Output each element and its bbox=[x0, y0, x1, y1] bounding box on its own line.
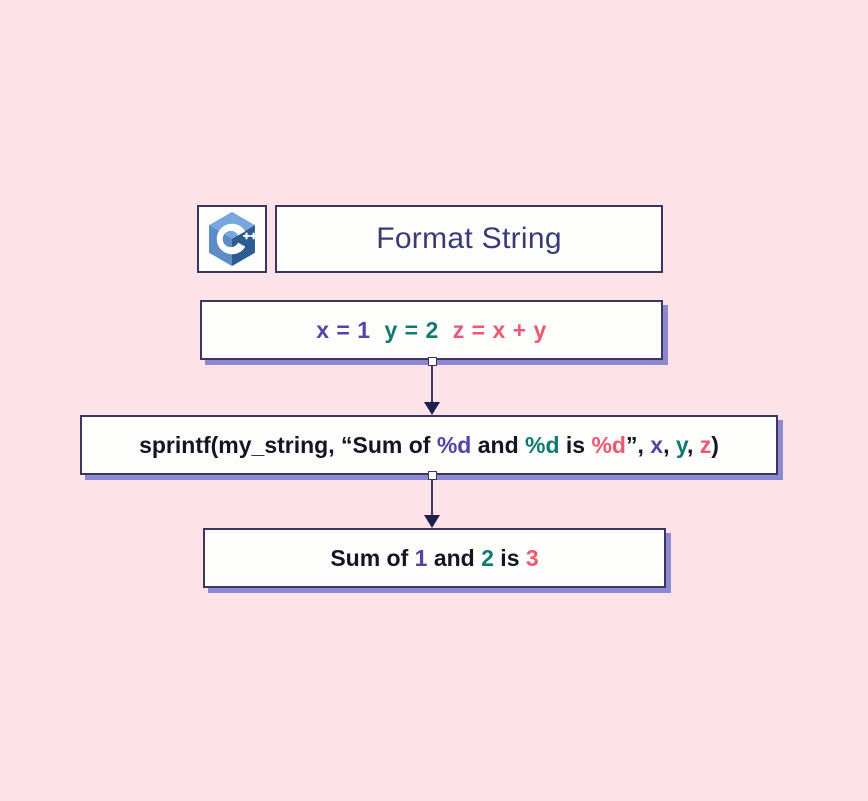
format-spec-2: %d bbox=[525, 432, 560, 458]
format-spec-3: %d bbox=[591, 432, 626, 458]
arrow-head-icon bbox=[424, 515, 440, 528]
sprintf-arg-z: z bbox=[700, 432, 712, 458]
result-prefix: Sum of bbox=[330, 545, 414, 571]
cpp-logo-icon bbox=[206, 211, 258, 267]
connector-stem bbox=[431, 366, 433, 402]
result-value-1: 1 bbox=[415, 545, 428, 571]
variable-y-assignment: y = 2 bbox=[384, 317, 438, 343]
sprintf-arg-x: x bbox=[650, 432, 663, 458]
cpp-logo-tile bbox=[197, 205, 267, 273]
variable-z-assignment: z = x + y bbox=[453, 317, 547, 343]
result-value-2: 2 bbox=[481, 545, 494, 571]
sprintf-sep-1: , bbox=[663, 432, 676, 458]
sprintf-box: sprintf(my_string, “Sum of %d and %d is … bbox=[80, 415, 778, 475]
variables-box: x = 1y = 2z = x + y bbox=[200, 300, 663, 360]
arrow-head-icon bbox=[424, 402, 440, 415]
sprintf-prefix: sprintf(my_string, “Sum of bbox=[139, 432, 437, 458]
result-statement: Sum of 1 and 2 is 3 bbox=[330, 545, 538, 572]
connector-knob-icon bbox=[428, 357, 437, 366]
result-mid-2: is bbox=[494, 545, 526, 571]
sprintf-suffix: ) bbox=[711, 432, 719, 458]
connector-stem bbox=[431, 480, 433, 515]
sprintf-sep-2: , bbox=[687, 432, 700, 458]
sprintf-mid-2: is bbox=[560, 432, 592, 458]
sprintf-close-quote: ”, bbox=[626, 432, 650, 458]
sprintf-statement: sprintf(my_string, “Sum of %d and %d is … bbox=[139, 432, 719, 459]
result-box: Sum of 1 and 2 is 3 bbox=[203, 528, 666, 588]
sprintf-arg-y: y bbox=[676, 432, 687, 458]
sprintf-mid-1: and bbox=[471, 432, 525, 458]
result-mid-1: and bbox=[427, 545, 481, 571]
diagram-canvas: Format String x = 1y = 2z = x + y sprint… bbox=[0, 0, 868, 801]
connector-knob-icon bbox=[428, 471, 437, 480]
title-box: Format String bbox=[275, 205, 663, 273]
variable-x-assignment: x = 1 bbox=[316, 317, 370, 343]
connector-vars-to-sprintf bbox=[425, 357, 439, 415]
connector-sprintf-to-result bbox=[425, 471, 439, 528]
page-title: Format String bbox=[376, 222, 562, 256]
format-spec-1: %d bbox=[437, 432, 472, 458]
result-value-3: 3 bbox=[526, 545, 539, 571]
variables-expression: x = 1y = 2z = x + y bbox=[316, 317, 547, 344]
